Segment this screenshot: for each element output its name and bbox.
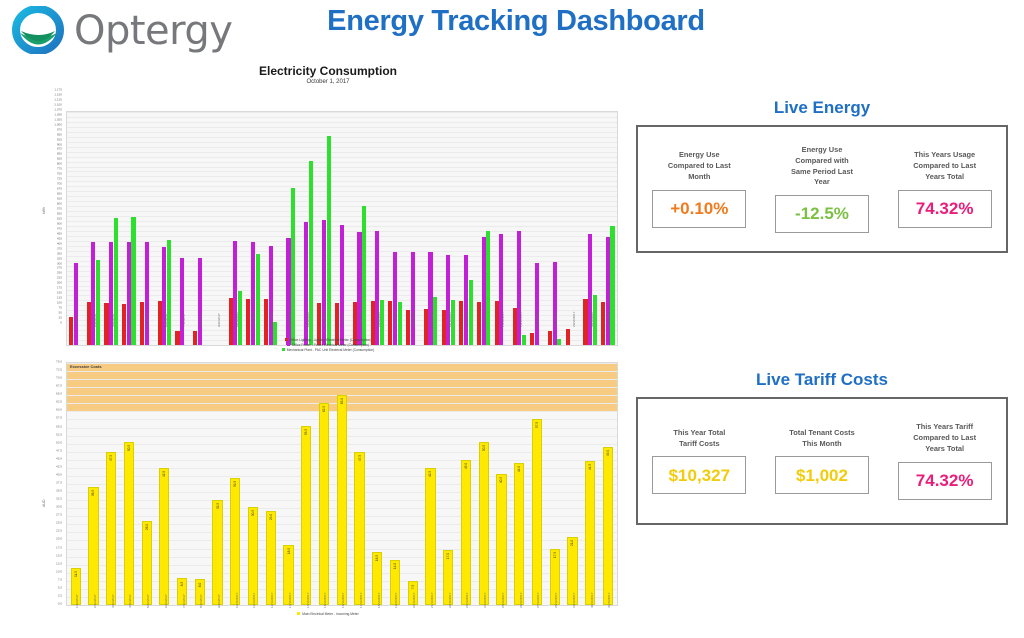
gridline — [67, 147, 617, 148]
x-axis-tick: 16/10/2017 — [342, 593, 345, 608]
y-axis-tick: 600 — [57, 202, 62, 205]
y-axis-tick: 1,125 — [54, 98, 62, 101]
bar[interactable]: 40.5 — [496, 474, 506, 605]
y-axis-tick: 450 — [57, 232, 62, 235]
bar[interactable]: 47.5 — [354, 452, 364, 605]
gridline — [67, 211, 617, 212]
x-axis-tick: 9/10/2017 — [218, 594, 221, 608]
kpi-label: Energy UseCompared to LastMonth — [642, 150, 757, 182]
legend-label: Office Power - Power Electrical Meter (C… — [292, 343, 369, 347]
y-axis-tick: 27.5 — [56, 514, 62, 517]
y-axis-tick: 1,175 — [54, 88, 62, 91]
x-axis-tick: 20/10/2017 — [413, 593, 416, 608]
bar-value-label: 29.0 — [269, 514, 273, 520]
y-axis-tick: 25 — [59, 316, 62, 319]
dashboard-header: Optergy Energy Tracking Dashboard — [0, 0, 1024, 60]
kpi-value: $10,327 — [669, 467, 730, 484]
y-axis-tick: 825 — [57, 158, 62, 161]
y-axis-tick: 750 — [57, 173, 62, 176]
y-axis-tick: 950 — [57, 133, 62, 136]
kpi-label: This Years TariffCompared to LastYears T… — [887, 422, 1002, 454]
y-axis-tick: 700 — [57, 183, 62, 186]
gridline — [67, 206, 617, 207]
y-axis-tick: 40.0 — [56, 473, 62, 476]
x-axis-tick: 10/10/2017 — [236, 593, 239, 608]
bar-value-label: 14.0 — [393, 563, 397, 569]
y-axis-tick: 725 — [57, 178, 62, 181]
bar[interactable]: 26.0 — [142, 521, 152, 605]
gridline — [67, 142, 617, 143]
y-axis-tick: 60.0 — [56, 409, 62, 412]
y-axis-tick: 50.0 — [56, 441, 62, 444]
x-axis-tick: 17/10/2017 — [360, 593, 363, 608]
y-axis-tick: 350 — [57, 252, 62, 255]
y-axis-tick: 475 — [57, 227, 62, 230]
y-axis-tick: 75 — [59, 307, 62, 310]
kpi-value-box[interactable]: 74.32% — [898, 462, 992, 500]
electricity-consumption-chart: Electricity Consumption October 1, 2017 … — [38, 64, 618, 354]
y-axis-tick: 1,150 — [54, 93, 62, 96]
bar-value-label: 57.5 — [535, 422, 539, 428]
kpi-value-box[interactable]: +0.10% — [652, 190, 746, 228]
bar-value-label: 16.5 — [375, 555, 379, 561]
gridline — [67, 196, 617, 197]
chart-legend: Main Electrical Meter - Incoming Meter — [38, 612, 618, 617]
y-axis-tick: 72.5 — [56, 369, 62, 372]
y-axis-tick: 875 — [57, 148, 62, 151]
bar-value-label: 30.5 — [251, 509, 255, 515]
y-axis-tick: 2.5 — [58, 594, 62, 597]
x-axis-tick: 9/10/2017 — [218, 313, 221, 327]
bar-value-label: 47.5 — [109, 455, 113, 461]
bar-value-label: 8.0 — [198, 583, 202, 587]
y-axis-tick: 75.0 — [56, 360, 62, 363]
bar-value-label: 8.5 — [180, 581, 184, 585]
kpi-cell: This Years UsageCompared to LastYears To… — [883, 150, 1006, 227]
gridline — [67, 127, 617, 128]
bar-value-label: 42.5 — [162, 471, 166, 477]
live-energy-panel: Live Energy Energy UseCompared to LastMo… — [636, 98, 1008, 253]
x-axis-tick: 15/10/2017 — [324, 312, 327, 327]
gridline — [67, 371, 617, 372]
gridline — [67, 387, 617, 388]
y-axis-tick: 1,100 — [54, 103, 62, 106]
x-axis-tick: 30/10/2017 — [591, 593, 594, 608]
legend-swatch-icon — [287, 343, 290, 346]
bar-value-label: 32.5 — [216, 503, 220, 509]
x-axis-tick: 23/10/2017 — [466, 312, 469, 327]
y-axis-tick: 57.5 — [56, 417, 62, 420]
bar-value-label: 47.5 — [358, 455, 362, 461]
kpi-label: Energy UseCompared withSame Period LastY… — [765, 145, 880, 188]
x-axis-tick: 30/10/2017 — [591, 312, 594, 327]
bar-value-label: 62.5 — [322, 406, 326, 412]
x-axis-tick: 6/10/2017 — [165, 594, 168, 608]
y-axis-tick: 0.0 — [58, 602, 62, 605]
gridline — [67, 162, 617, 163]
y-axis-tick: 10.0 — [56, 570, 62, 573]
bar[interactable]: 29.0 — [266, 511, 276, 605]
y-axis-tick: 200 — [57, 282, 62, 285]
kpi-value-box[interactable]: -12.5% — [775, 195, 869, 233]
legend-swatch-icon — [285, 338, 288, 341]
chart-subtitle: October 1, 2017 — [38, 79, 618, 85]
y-axis-tick: 500 — [57, 222, 62, 225]
x-axis-tick: 22/10/2017 — [449, 593, 452, 608]
kpi-value: +0.10% — [670, 200, 728, 217]
bar-value-label: 49.0 — [606, 450, 610, 456]
y-axis-tick: 47.5 — [56, 449, 62, 452]
gridline — [67, 171, 617, 172]
gridline — [67, 157, 617, 158]
kpi-value-box[interactable]: 74.32% — [898, 190, 992, 228]
gridline — [67, 201, 617, 202]
y-axis-tick: 150 — [57, 292, 62, 295]
x-axis-tick: 14/10/2017 — [307, 312, 310, 327]
x-axis-tick: 24/10/2017 — [484, 593, 487, 608]
y-axis-tick: 1,075 — [54, 108, 62, 111]
y-axis-tick: 30.0 — [56, 506, 62, 509]
gridline — [67, 112, 617, 113]
y-axis-tick: 12.5 — [56, 562, 62, 565]
gridline — [67, 176, 617, 177]
gridline — [67, 216, 617, 217]
y-axis-tick: 650 — [57, 193, 62, 196]
x-axis-tick: 13/10/2017 — [289, 312, 292, 327]
bar[interactable]: 44.5 — [585, 461, 595, 605]
x-axis-tick: 3/10/2017 — [112, 313, 115, 327]
kpi-label: This Years UsageCompared to LastYears To… — [887, 150, 1002, 182]
x-axis-tick: 24/10/2017 — [484, 312, 487, 327]
live-tariff-panel: Live Tariff Costs This Year TotalTariff … — [636, 370, 1008, 525]
y-axis-tick: 35.0 — [56, 490, 62, 493]
bar-value-label: 45.0 — [464, 463, 468, 469]
y-axis-tick: 275 — [57, 267, 62, 270]
y-axis-ticks: 75.072.570.067.565.062.560.057.555.052.5… — [38, 362, 64, 606]
bar-value-label: 21.0 — [570, 540, 574, 546]
bar[interactable]: 45.0 — [461, 460, 471, 605]
y-axis-tick: 125 — [57, 297, 62, 300]
x-axis-tick: 2/10/2017 — [94, 594, 97, 608]
y-axis-tick: 625 — [57, 198, 62, 201]
x-axis-tick: 5/10/2017 — [147, 594, 150, 608]
y-axis-tick: 300 — [57, 262, 62, 265]
gridline — [67, 117, 617, 118]
y-axis-tick: 37.5 — [56, 481, 62, 484]
y-axis-tick: 55.0 — [56, 425, 62, 428]
y-axis-tick: 7.5 — [58, 578, 62, 581]
y-axis-tick: 325 — [57, 257, 62, 260]
y-axis-tick: 17.5 — [56, 546, 62, 549]
y-axis-tick: 550 — [57, 212, 62, 215]
y-axis-tick: 70.0 — [56, 377, 62, 380]
bar[interactable]: 49.0 — [603, 447, 613, 605]
y-axis-tick: 45.0 — [56, 457, 62, 460]
bar[interactable]: 62.5 — [319, 403, 329, 605]
x-axis-tick: 25/10/2017 — [502, 593, 505, 608]
y-axis-tick: 22.5 — [56, 530, 62, 533]
bar-value-label: 7.5 — [411, 585, 415, 589]
y-axis-tick: 52.5 — [56, 433, 62, 436]
x-axis-tick: 2/10/2017 — [94, 313, 97, 327]
x-axis-tick: 8/10/2017 — [200, 313, 203, 327]
x-axis-tick: 26/10/2017 — [520, 312, 523, 327]
gridline — [67, 379, 617, 380]
x-axis-tick: 26/10/2017 — [520, 593, 523, 608]
legend-item[interactable]: Main Electrical Meter - Incoming Meter — [38, 612, 618, 617]
y-axis-tick: 65.0 — [56, 393, 62, 396]
x-axis-tick: 3/10/2017 — [112, 594, 115, 608]
x-axis-tick: 22/10/2017 — [449, 312, 452, 327]
y-axis-tick: 67.5 — [56, 385, 62, 388]
x-axis-tick: 10/10/2017 — [236, 312, 239, 327]
y-axis-tick: 675 — [57, 188, 62, 191]
x-axis-tick: 18/10/2017 — [378, 593, 381, 608]
y-axis-ticks: 1,1751,1501,1251,1001,0751,0501,0251,000… — [38, 90, 64, 325]
x-axis-tick: 1/10/2017 — [76, 594, 79, 608]
gridline — [67, 132, 617, 133]
x-axis-tick: 27/10/2017 — [537, 312, 540, 327]
x-axis-tick: 5/10/2017 — [147, 313, 150, 327]
bar[interactable]: 55.5 — [301, 426, 311, 605]
bar[interactable]: 36.5 — [88, 487, 98, 605]
y-axis-tick: 32.5 — [56, 498, 62, 501]
bar-value-label: 44.0 — [517, 466, 521, 472]
bar[interactable]: 39.5 — [230, 478, 240, 605]
x-axis-tick: 6/10/2017 — [165, 313, 168, 327]
live-tariff-heading: Live Tariff Costs — [636, 370, 1008, 390]
excessive-costs-label: Excessive Costs — [70, 364, 102, 369]
y-axis-tick: 1,025 — [54, 118, 62, 121]
kpi-value: -12.5% — [795, 205, 849, 222]
legend-item[interactable]: Mechanical Plant - PAC Unit Electrical M… — [38, 348, 618, 353]
bar[interactable]: 42.5 — [425, 468, 435, 605]
y-axis-tick: 225 — [57, 277, 62, 280]
y-axis-tick: 5.0 — [58, 586, 62, 589]
y-axis-tick: 175 — [57, 287, 62, 290]
x-axis-tick: 8/10/2017 — [200, 594, 203, 608]
bar[interactable]: 50.5 — [479, 442, 489, 605]
x-axis-tick: 16/10/2017 — [342, 312, 345, 327]
bar[interactable]: 50.5 — [124, 442, 134, 605]
bar[interactable]: 30.5 — [248, 507, 258, 605]
x-axis-tick: 12/10/2017 — [271, 593, 274, 608]
x-axis-tick: 25/10/2017 — [502, 312, 505, 327]
bar[interactable]: 44.0 — [514, 463, 524, 605]
x-axis-tick: 27/10/2017 — [537, 593, 540, 608]
x-axis-tick: 17/10/2017 — [360, 312, 363, 327]
bar-value-label: 11.5 — [74, 571, 78, 577]
chart-title: Electricity Consumption — [38, 64, 618, 78]
x-axis-tick: 15/10/2017 — [324, 593, 327, 608]
bar-value-label: 17.5 — [553, 551, 557, 557]
x-axis-tick: 7/10/2017 — [183, 594, 186, 608]
kpi-cell: This Year TotalTariff Costs$10,327 — [638, 428, 761, 494]
y-axis-tick: 15.0 — [56, 554, 62, 557]
page-title: Energy Tracking Dashboard — [296, 5, 736, 38]
gridline — [67, 122, 617, 123]
brand-name: Optergy — [74, 8, 232, 54]
y-axis-tick: 375 — [57, 247, 62, 250]
x-axis-tick: 19/10/2017 — [395, 312, 398, 327]
live-tariff-metrics: This Year TotalTariff Costs$10,327Total … — [636, 397, 1008, 525]
live-energy-metrics: Energy UseCompared to LastMonth+0.10%Ene… — [636, 125, 1008, 253]
bar-value-label: 18.5 — [287, 548, 291, 554]
y-axis-tick: 100 — [57, 302, 62, 305]
gridline — [67, 221, 617, 222]
y-axis-tick: 525 — [57, 217, 62, 220]
bar[interactable]: 32.5 — [212, 500, 222, 605]
y-axis-tick: 0 — [60, 321, 62, 324]
y-axis-tick: 575 — [57, 207, 62, 210]
live-energy-heading: Live Energy — [636, 98, 1008, 118]
optergy-ring-leaf-logo-icon — [8, 6, 68, 54]
bar-value-label: 50.5 — [482, 445, 486, 451]
tariff-costs-chart: AUD 75.072.570.067.565.062.560.057.555.0… — [38, 362, 618, 628]
bar[interactable]: 42.5 — [159, 468, 169, 605]
x-axis-tick: 13/10/2017 — [289, 593, 292, 608]
bar-value-label: 65.0 — [340, 398, 344, 404]
y-axis-tick: 62.5 — [56, 401, 62, 404]
x-axis-tick: 7/10/2017 — [183, 313, 186, 327]
x-axis-tick: 20/10/2017 — [413, 312, 416, 327]
x-axis-tick: 23/10/2017 — [466, 593, 469, 608]
x-axis-tick: 4/10/2017 — [129, 313, 132, 327]
y-axis-tick: 1,050 — [54, 113, 62, 116]
y-axis-tick: 800 — [57, 163, 62, 166]
legend-label: Main Electrical Meter - Incoming Meter — [302, 612, 358, 616]
bar[interactable]: 47.5 — [106, 452, 116, 605]
y-axis-tick: 25.0 — [56, 522, 62, 525]
x-axis-tick: 19/10/2017 — [395, 593, 398, 608]
bar-value-label: 40.5 — [499, 477, 503, 483]
bar-value-label: 26.0 — [145, 524, 149, 530]
y-axis-tick: 975 — [57, 128, 62, 131]
bar-value-label: 50.5 — [127, 445, 131, 451]
bar-value-label: 44.5 — [588, 464, 592, 470]
legend-swatch-icon — [282, 348, 285, 351]
x-axis-tick: 12/10/2017 — [271, 312, 274, 327]
x-axis-tick: 28/10/2017 — [555, 593, 558, 608]
y-axis-tick: 925 — [57, 138, 62, 141]
y-axis-tick: 50 — [59, 312, 62, 315]
gridline — [67, 152, 617, 153]
x-axis-tick: 1/10/2017 — [76, 313, 79, 327]
gridline — [67, 186, 617, 187]
kpi-cell: Energy UseCompared withSame Period LastY… — [761, 145, 884, 233]
bar-value-label: 39.5 — [233, 480, 237, 486]
legend-label: Office Lighting - Lighting Electrical Me… — [290, 338, 372, 342]
y-axis-tick: 900 — [57, 143, 62, 146]
gridline — [67, 181, 617, 182]
bar-value-label: 42.5 — [428, 471, 432, 477]
x-axis-tick: 18/10/2017 — [378, 312, 381, 327]
bar-value-label: 17.0 — [446, 553, 450, 559]
bar[interactable]: 65.0 — [337, 395, 347, 605]
y-axis-tick: 20.0 — [56, 538, 62, 541]
kpi-cell: This Years TariffCompared to LastYears T… — [883, 422, 1006, 499]
x-axis-tick: 4/10/2017 — [129, 594, 132, 608]
bar-value-label: 36.5 — [91, 490, 95, 496]
bar[interactable]: 57.5 — [532, 419, 542, 605]
x-axis-tick: 21/10/2017 — [431, 312, 434, 327]
x-axis-tick: 31/10/2017 — [608, 593, 611, 608]
legend-swatch-icon — [297, 612, 300, 615]
gridline — [67, 137, 617, 138]
y-axis-tick: 1,000 — [54, 123, 62, 126]
x-axis-tick: 29/10/2017 — [573, 312, 576, 327]
kpi-value: $1,002 — [796, 467, 848, 484]
gridline — [67, 191, 617, 192]
x-axis-tick: 14/10/2017 — [307, 593, 310, 608]
legend-label: Mechanical Plant - PAC Unit Electrical M… — [287, 348, 375, 352]
kpi-value: 74.32% — [916, 200, 974, 217]
y-axis-tick: 850 — [57, 153, 62, 156]
kpi-value-box[interactable]: $1,002 — [775, 456, 869, 494]
chart-legend: Office Lighting - Lighting Electrical Me… — [38, 338, 618, 352]
x-axis-tick: 31/10/2017 — [608, 312, 611, 327]
plot-area: Excessive Costs 11.536.547.550.526.042.5… — [66, 362, 618, 606]
y-axis-tick: 250 — [57, 272, 62, 275]
kpi-label: This Year TotalTariff Costs — [642, 428, 757, 449]
x-axis-tick: 29/10/2017 — [573, 593, 576, 608]
y-axis-tick: 42.5 — [56, 465, 62, 468]
gridline — [67, 363, 617, 364]
gridline — [67, 167, 617, 168]
kpi-value: 74.32% — [916, 472, 974, 489]
kpi-cell: Total Tenant CostsThis Month$1,002 — [761, 428, 884, 494]
kpi-label: Total Tenant CostsThis Month — [765, 428, 880, 449]
bar[interactable] — [327, 136, 331, 345]
y-axis-tick: 400 — [57, 242, 62, 245]
kpi-value-box[interactable]: $10,327 — [652, 456, 746, 494]
x-axis-tick: 28/10/2017 — [555, 312, 558, 327]
x-axis-tick: 21/10/2017 — [431, 593, 434, 608]
y-axis-tick: 775 — [57, 168, 62, 171]
y-axis-tick: 425 — [57, 237, 62, 240]
bar-value-label: 55.5 — [304, 429, 308, 435]
kpi-cell: Energy UseCompared to LastMonth+0.10% — [638, 150, 761, 227]
